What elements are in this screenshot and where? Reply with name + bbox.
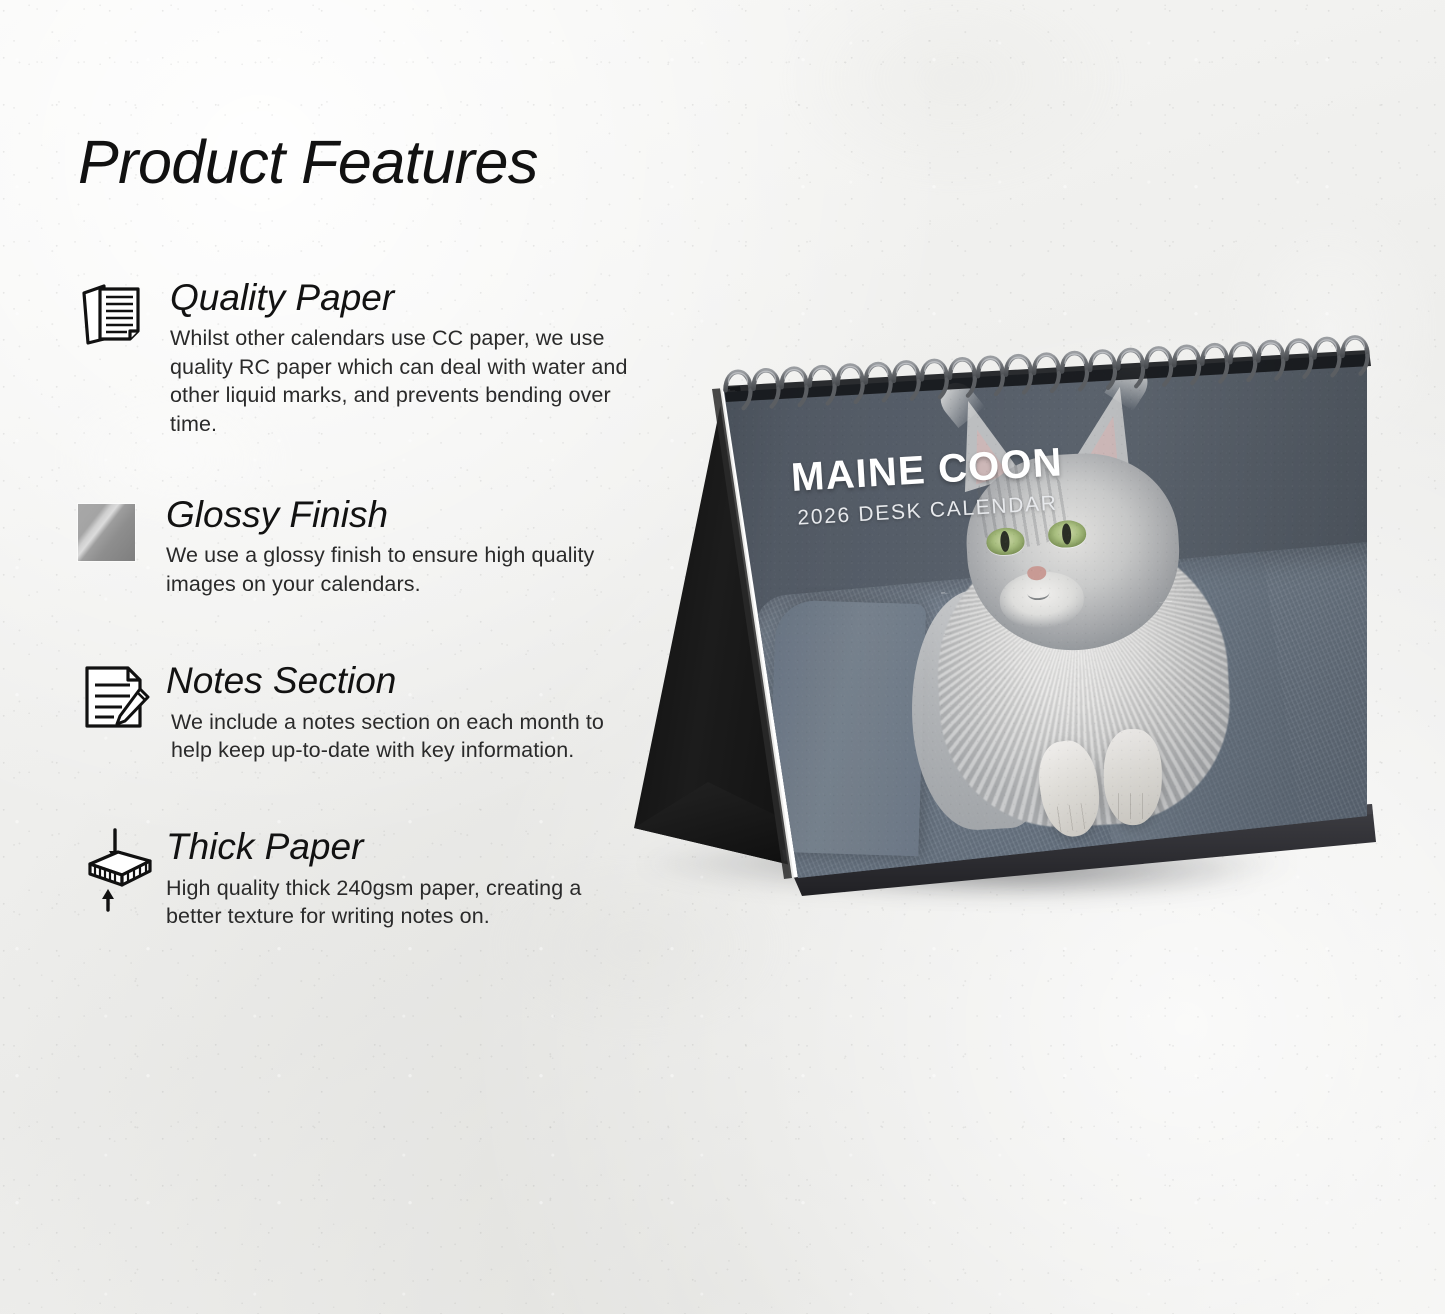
stacked-papers-icon xyxy=(78,277,160,359)
feature-description: High quality thick 240gsm paper, creatin… xyxy=(166,874,638,931)
feature-glossy-finish: Glossy Finish We use a glossy finish to … xyxy=(78,494,638,598)
feature-thick-paper: Thick Paper High quality thick 240gsm pa… xyxy=(78,826,638,930)
feature-text: Notes Section We include a notes section… xyxy=(78,660,638,764)
feature-quality-paper: Quality Paper Whilst other calendars use… xyxy=(78,277,638,438)
feature-description: We include a notes section on each month… xyxy=(166,708,638,765)
feature-text: Quality Paper Whilst other calendars use… xyxy=(78,277,638,438)
feature-title: Thick Paper xyxy=(166,826,638,867)
feature-text: Glossy Finish We use a glossy finish to … xyxy=(78,494,638,598)
feature-description: We use a glossy finish to ensure high qu… xyxy=(166,541,638,598)
document-pencil-icon xyxy=(78,660,160,742)
product-mockup: MAINE COON 2026 DESK CALENDAR xyxy=(612,330,1402,970)
features-column: Product Features xyxy=(78,132,638,965)
feature-title: Glossy Finish xyxy=(166,494,638,535)
glossy-swatch-shape xyxy=(78,504,135,561)
spiral-binding xyxy=(612,330,1402,970)
feature-text: Thick Paper High quality thick 240gsm pa… xyxy=(78,826,638,930)
feature-notes-section: Notes Section We include a notes section… xyxy=(78,660,638,764)
infographic-page: Product Features xyxy=(0,0,1445,1314)
page-title: Product Features xyxy=(78,132,638,193)
feature-title: Quality Paper xyxy=(170,277,638,318)
thick-slab-icon xyxy=(78,828,160,910)
feature-description: Whilst other calendars use CC paper, we … xyxy=(170,324,638,438)
glossy-swatch-icon xyxy=(78,498,160,580)
feature-title: Notes Section xyxy=(166,660,638,701)
